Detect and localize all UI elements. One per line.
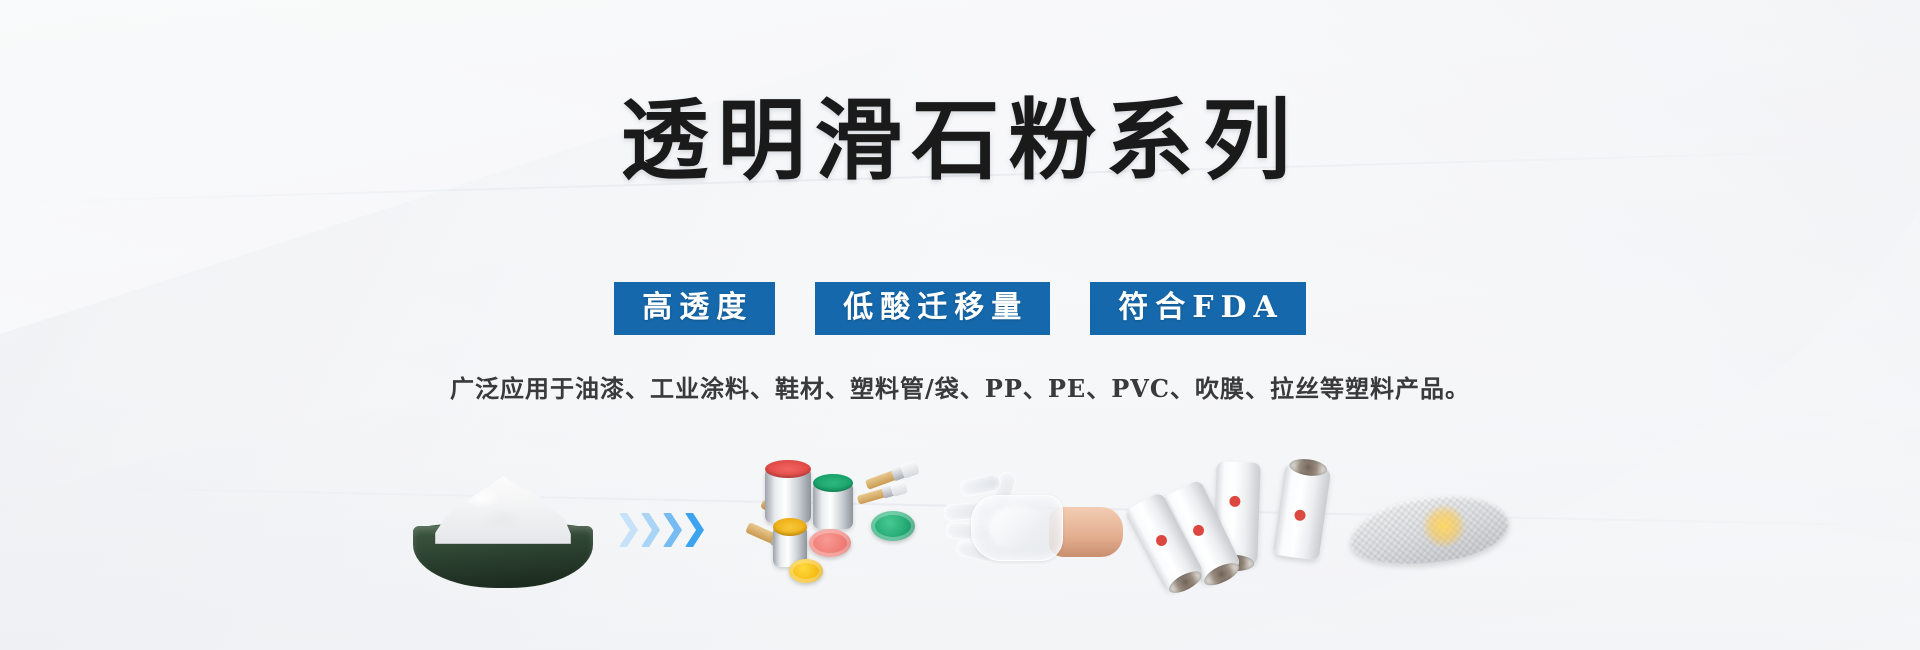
paint-can-green bbox=[813, 483, 853, 529]
paint-brush-icon bbox=[857, 482, 908, 504]
banner-content: 透明滑石粉系列 高透度 低酸迁移量 符合FDA 广泛应用于油漆、工业涂料、鞋材、… bbox=[0, 0, 1920, 650]
paint-lid-yellow bbox=[789, 559, 823, 583]
banner-subtitle: 广泛应用于油漆、工业涂料、鞋材、塑料管/袋、PP、PE、PVC、吹膜、拉丝等塑料… bbox=[0, 374, 1920, 404]
paint-can-red bbox=[765, 469, 811, 523]
shoe-sole-glow bbox=[1421, 505, 1467, 547]
feature-badge-fda-compliant: 符合FDA bbox=[1090, 282, 1306, 335]
paint-lid-pink bbox=[809, 529, 851, 557]
product-image-strip bbox=[0, 435, 1920, 625]
plastic-film-rolls-image bbox=[1141, 460, 1331, 600]
chevron-right-icon bbox=[619, 513, 638, 547]
glove-sheen bbox=[989, 505, 1049, 551]
chevron-right-icon bbox=[685, 513, 704, 547]
gloved-hand-image bbox=[937, 465, 1127, 595]
product-banner: 透明滑石粉系列 高透度 低酸迁移量 符合FDA 广泛应用于油漆、工业涂料、鞋材、… bbox=[0, 0, 1920, 650]
chevron-right-icon bbox=[641, 513, 660, 547]
paint-lid-green bbox=[871, 511, 915, 541]
banner-title: 透明滑石粉系列 bbox=[0, 92, 1920, 188]
paint-cans-image bbox=[743, 455, 923, 605]
film-roll-back bbox=[1273, 463, 1331, 561]
feature-badge-list: 高透度 低酸迁移量 符合FDA bbox=[0, 282, 1920, 335]
process-arrows bbox=[619, 500, 729, 560]
talc-powder-bowl-image bbox=[405, 470, 605, 590]
chevron-right-icon bbox=[663, 513, 682, 547]
talc-powder-heap bbox=[435, 476, 571, 544]
feature-badge-low-acid-migration: 低酸迁移量 bbox=[815, 282, 1050, 335]
shoe-sole-image bbox=[1345, 475, 1515, 585]
feature-badge-high-transparency: 高透度 bbox=[614, 282, 775, 335]
